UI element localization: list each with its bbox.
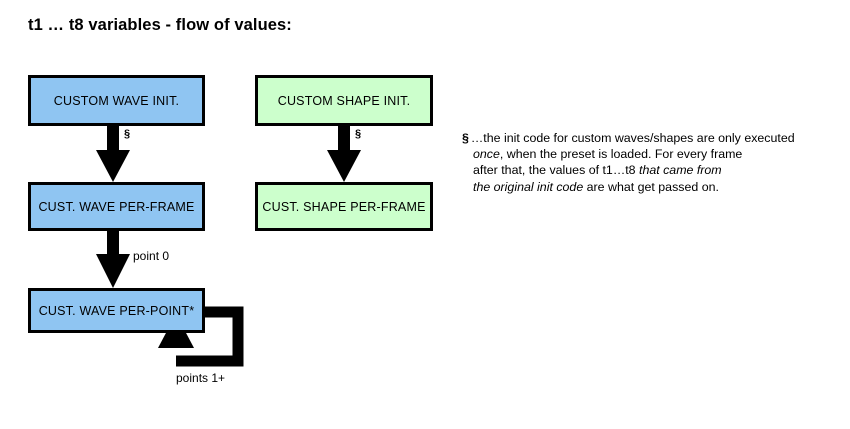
edge-label-wave-frame-to-point: point 0 <box>133 249 169 263</box>
node-cust-shape-per-frame[interactable]: CUST. SHAPE PER-FRAME <box>255 182 433 231</box>
node-custom-wave-init[interactable]: CUSTOM WAVE INIT. <box>28 75 205 126</box>
footnote-line-4-text: are what get passed on. <box>583 180 719 194</box>
footnote-line-2-text: , when the preset is loaded. For every f… <box>500 147 742 161</box>
node-cust-wave-per-point[interactable]: CUST. WAVE PER-POINT* <box>28 288 205 333</box>
node-label: CUST. WAVE PER-FRAME <box>38 200 194 214</box>
node-label: CUSTOM SHAPE INIT. <box>278 94 411 108</box>
node-label: CUSTOM WAVE INIT. <box>54 94 179 108</box>
node-label: CUST. SHAPE PER-FRAME <box>262 200 425 214</box>
footnote-line-2: once, when the preset is loaded. For eve… <box>462 146 842 162</box>
diagram-page: t1 … t8 variables - flow of values: CUST… <box>0 0 850 429</box>
footnote-line-4: the original init code are what get pass… <box>462 179 842 195</box>
footnote-line-3-text: after that, the values of t1…t8 <box>473 163 639 177</box>
footnote-line-2-italic: once <box>473 147 500 161</box>
edge-label-wave-point-loop: points 1+ <box>176 371 225 385</box>
footnote-line-3: after that, the values of t1…t8 that cam… <box>462 162 842 178</box>
node-label: CUST. WAVE PER-POINT* <box>39 304 195 318</box>
footnote-line-1-text: …the init code for custom waves/shapes a… <box>471 131 795 145</box>
footnote-line-1: §…the init code for custom waves/shapes … <box>462 130 842 146</box>
node-cust-wave-per-frame[interactable]: CUST. WAVE PER-FRAME <box>28 182 205 231</box>
edge-label-wave-init-to-frame: § <box>124 128 130 140</box>
footnote-line-4-italic: the original init code <box>473 180 583 194</box>
edge-label-shape-init-to-frame: § <box>355 128 361 140</box>
footnote-line-3-italic: that came from <box>639 163 722 177</box>
footnote-mark: § <box>462 131 469 145</box>
footnote: §…the init code for custom waves/shapes … <box>462 130 842 195</box>
arrow-wave-frame-to-point <box>96 231 130 288</box>
node-custom-shape-init[interactable]: CUSTOM SHAPE INIT. <box>255 75 433 126</box>
